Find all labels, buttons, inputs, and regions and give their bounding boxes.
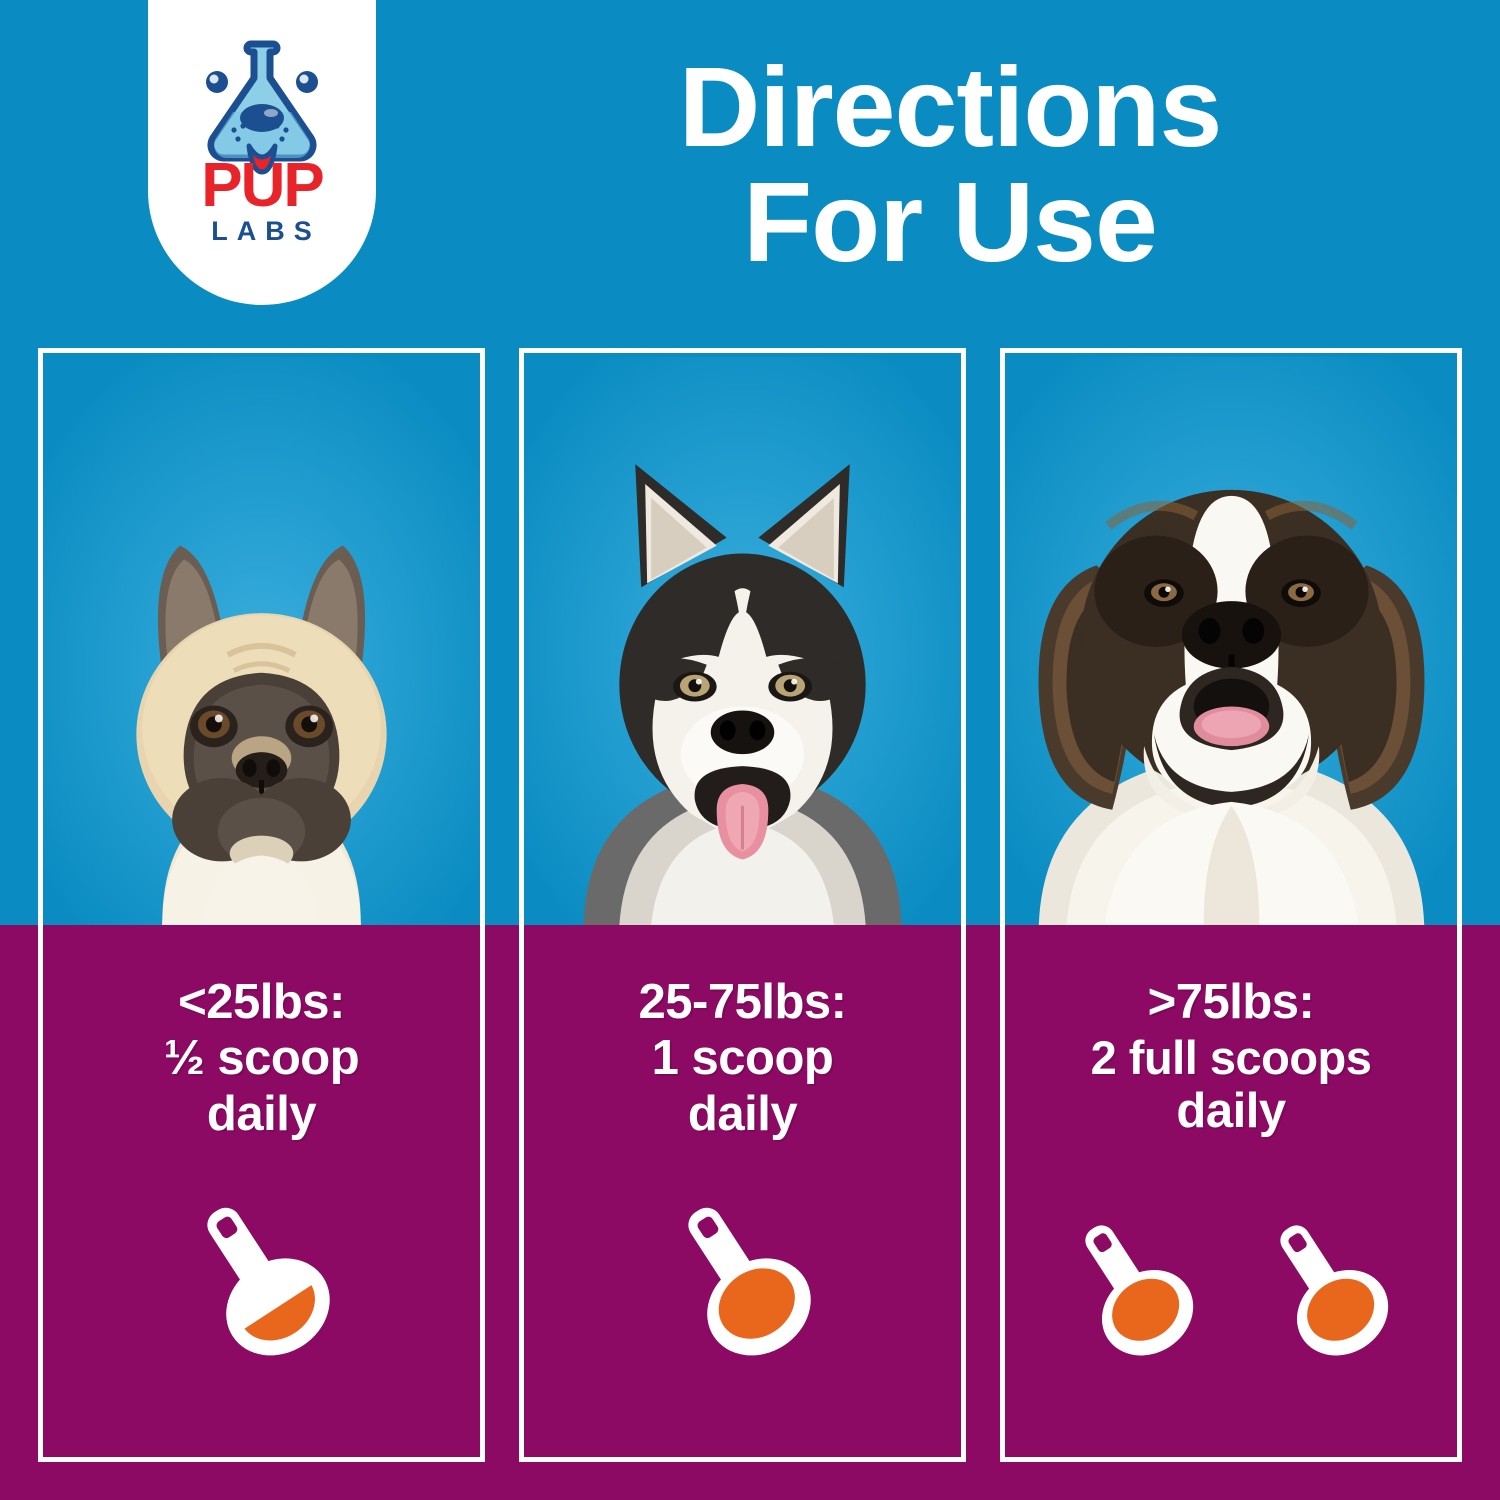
scoop-icons-large-dog [1005, 1219, 1457, 1367]
dose-line-small-1: ½ scoop [43, 1031, 480, 1087]
weight-label-large: >75lbs: [1005, 975, 1457, 1031]
dose-line-large-1: 2 full scoops [1005, 1031, 1457, 1085]
dosage-panel-medium-dog: 25-75lbs: 1 scoop daily [519, 348, 966, 1462]
measuring-scoop-full-icon [1236, 1219, 1421, 1367]
dose-line-large-2: daily [1005, 1084, 1457, 1140]
dosage-info-large-dog: >75lbs: 2 full scoops daily [1005, 925, 1457, 1457]
directions-for-use-poster: PUP LABS Directions For Use [0, 0, 1500, 1500]
scoop-icons-small-dog [43, 1202, 480, 1367]
dog-photo-medium [524, 353, 961, 925]
measuring-scoop-full-icon [1041, 1219, 1226, 1367]
french-bulldog-illustration [43, 353, 480, 925]
dosage-info-medium-dog: 25-75lbs: 1 scoop daily [524, 925, 961, 1457]
logo-wordmark: PUP [201, 162, 322, 210]
dosage-panel-small-dog: <25lbs: ½ scoop daily [38, 348, 485, 1462]
dosage-text-large-dog: >75lbs: 2 full scoops daily [1005, 925, 1457, 1140]
dog-photo-small [43, 353, 480, 925]
dose-line-small-2: daily [43, 1087, 480, 1143]
siberian-husky-illustration [524, 353, 961, 925]
dosage-text-medium-dog: 25-75lbs: 1 scoop daily [524, 925, 961, 1143]
dog-photo-large [1005, 353, 1457, 925]
dose-line-medium-2: daily [524, 1087, 961, 1143]
measuring-scoop-half-icon [157, 1202, 367, 1367]
dosage-text-small-dog: <25lbs: ½ scoop daily [43, 925, 480, 1143]
measuring-scoop-full-icon [638, 1202, 848, 1367]
dosage-panel-group: <25lbs: ½ scoop daily [0, 0, 1500, 1500]
weight-label-medium: 25-75lbs: [524, 975, 961, 1031]
weight-label-small: <25lbs: [43, 975, 480, 1031]
dosage-panel-large-dog: >75lbs: 2 full scoops daily [1000, 348, 1462, 1462]
scoop-icons-medium-dog [524, 1202, 961, 1367]
dosage-info-small-dog: <25lbs: ½ scoop daily [43, 925, 480, 1457]
saint-bernard-illustration [1005, 353, 1457, 925]
dose-line-medium-1: 1 scoop [524, 1031, 961, 1087]
